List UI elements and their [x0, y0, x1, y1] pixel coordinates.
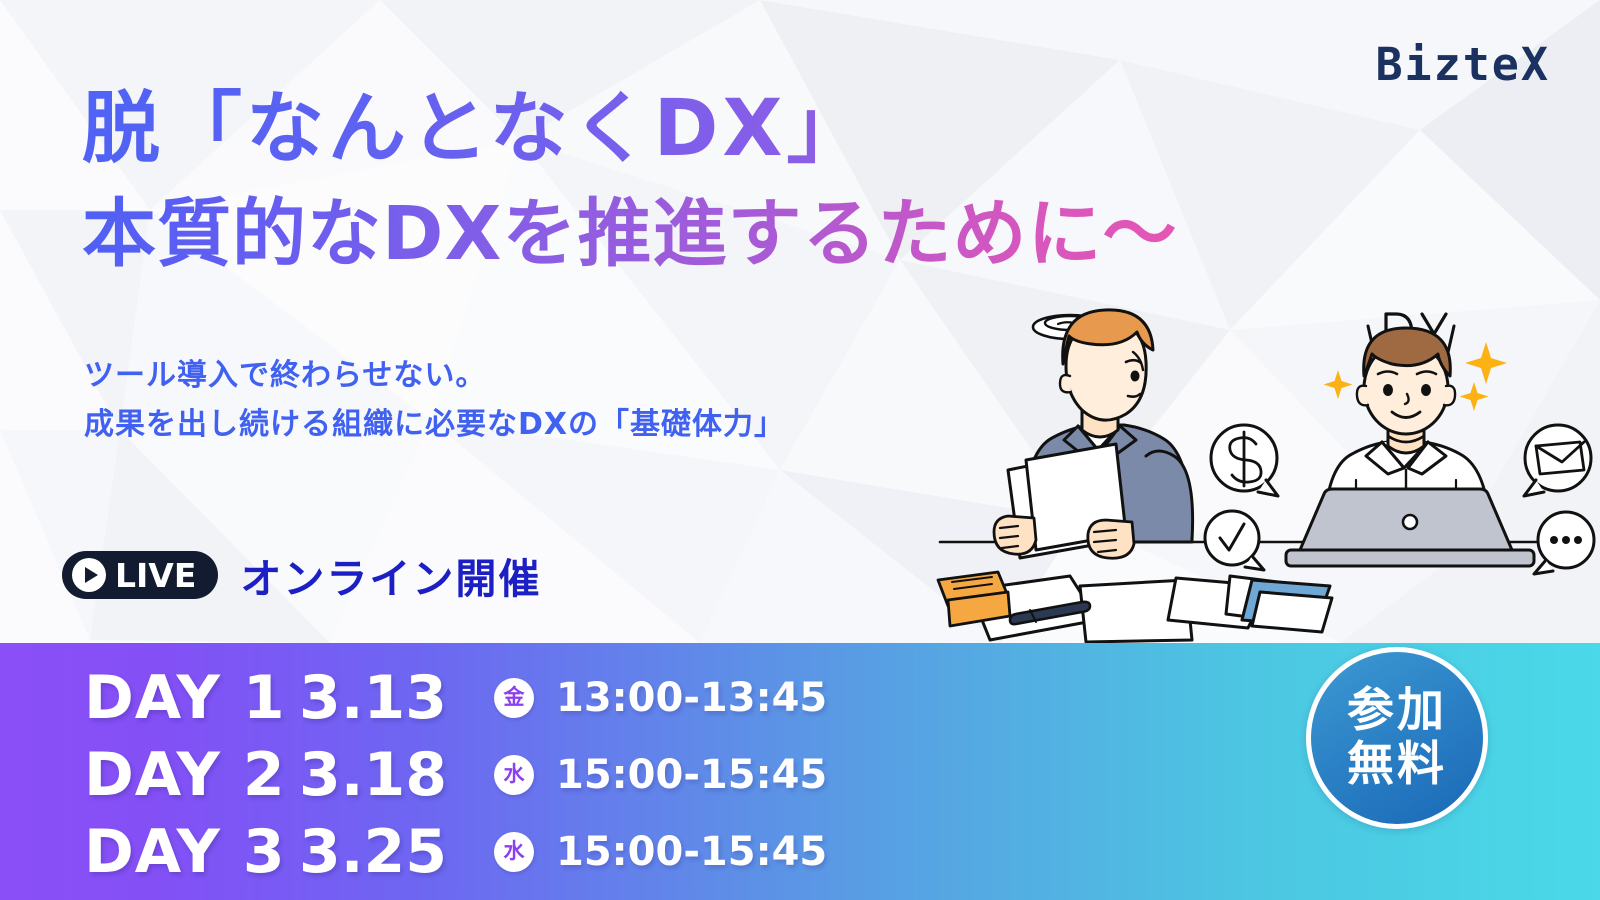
headline-block: 脱「なんとなくDX」 本質的なDXを推進するために〜: [82, 88, 1302, 273]
schedule-row: DAY 3 3.25 水 15:00-15:45: [84, 813, 827, 890]
day-label: DAY 2: [84, 745, 299, 805]
free-participation-badge[interactable]: 参加 無料: [1306, 647, 1488, 829]
day-label: DAY 1: [84, 668, 299, 728]
day-of-week-badge: 水: [494, 832, 534, 872]
headline-line-2: 本質的なDXを推進するために〜: [82, 195, 1302, 273]
subtitle-line-1: ツール導入で終わらせない。: [84, 352, 785, 401]
live-badge: LIVE: [62, 551, 218, 599]
day-of-week-badge: 金: [494, 678, 534, 718]
day-time: 15:00-15:45: [556, 832, 827, 872]
brand-logo: BizteX: [1375, 42, 1550, 87]
day-of-week-badge: 水: [494, 755, 534, 795]
day-of-week-label: 水: [504, 841, 525, 862]
play-icon: [72, 558, 106, 592]
banner-canvas: BizteX 脱「なんとなくDX」 本質的なDXを推進するために〜 ツール導入で…: [0, 0, 1600, 900]
event-format-label: オンライン開催: [240, 545, 541, 605]
subtitle-line-2: 成果を出し続ける組織に必要なDXの「基礎体力」: [84, 401, 785, 450]
live-badge-label: LIVE: [115, 559, 196, 592]
live-row: LIVE オンライン開催: [62, 545, 541, 605]
day-time: 15:00-15:45: [556, 755, 827, 795]
schedule-list: DAY 1 3.13 金 13:00-13:45 DAY 2 3.18 水 15…: [84, 659, 827, 890]
day-date: 3.18: [299, 745, 494, 805]
day-of-week-label: 金: [504, 687, 525, 708]
subtitle-block: ツール導入で終わらせない。 成果を出し続ける組織に必要なDXの「基礎体力」: [84, 352, 785, 449]
free-badge-line-2: 無料: [1347, 738, 1447, 792]
day-of-week-label: 水: [504, 764, 525, 785]
schedule-row: DAY 1 3.13 金 13:00-13:45: [84, 659, 827, 736]
day-date: 3.13: [299, 668, 494, 728]
day-label: DAY 3: [84, 822, 299, 882]
hero-illustration: [930, 290, 1600, 655]
day-time: 13:00-13:45: [556, 678, 827, 718]
day-date: 3.25: [299, 822, 494, 882]
schedule-row: DAY 2 3.18 水 15:00-15:45: [84, 736, 827, 813]
headline-line-1: 脱「なんとなくDX」: [82, 88, 1302, 171]
free-badge-line-1: 参加: [1347, 684, 1447, 738]
